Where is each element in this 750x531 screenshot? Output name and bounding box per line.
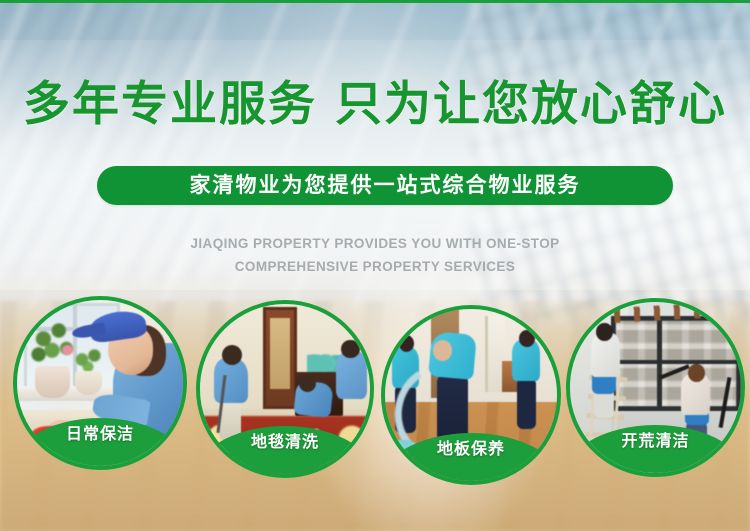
worker1-torso <box>214 358 248 402</box>
page-title-part-2: 只为让您放心舒心 <box>335 77 727 130</box>
service-label: 地毯清洗 <box>251 435 319 451</box>
flower-pot-small <box>75 371 102 394</box>
service-circle-floor-care[interactable]: 地板保养 <box>381 305 561 485</box>
service-label: 日常保洁 <box>66 427 134 443</box>
top-green-rule <box>0 0 750 3</box>
subtitle-line-1: JIAQING PROPERTY PROVIDES YOU WITH ONE-S… <box>0 236 750 251</box>
service-circle-carpet-washing[interactable]: 地毯清洗 <box>196 300 374 478</box>
tagline-pill: 家清物业为您提供一站式综合物业服务 <box>97 166 673 205</box>
worker3-legs <box>517 378 536 430</box>
worker1-head <box>596 323 613 342</box>
page-title: 多年专业服务只为让您放心舒心 <box>0 76 750 132</box>
worker1-head <box>399 335 414 352</box>
service-label: 地板保养 <box>437 442 505 458</box>
worker3-torso <box>336 352 367 400</box>
promo-banner: 多年专业服务只为让您放心舒心 家清物业为您提供一站式综合物业服务 JIAQING… <box>0 0 750 531</box>
worker3-head <box>341 340 360 359</box>
service-circle-move-in-cleaning[interactable]: 开荒清洁 <box>566 298 745 477</box>
worker2-head <box>433 340 452 361</box>
tagline-text: 家清物业为您提供一站式综合物业服务 <box>190 175 581 196</box>
service-circle-daily-cleaning[interactable]: 日常保洁 <box>13 296 187 470</box>
worker3-head <box>519 330 534 347</box>
subtitle-line-2: COMPREHENSIVE PROPERTY SERVICES <box>0 259 750 274</box>
flower-pot-large <box>35 366 70 398</box>
window-mullion-horizontal <box>611 360 741 364</box>
door-panel <box>270 318 290 389</box>
service-label: 开荒清洁 <box>622 434 690 450</box>
page-title-part-1: 多年专业服务 <box>23 77 317 130</box>
worker2-head <box>299 375 316 392</box>
